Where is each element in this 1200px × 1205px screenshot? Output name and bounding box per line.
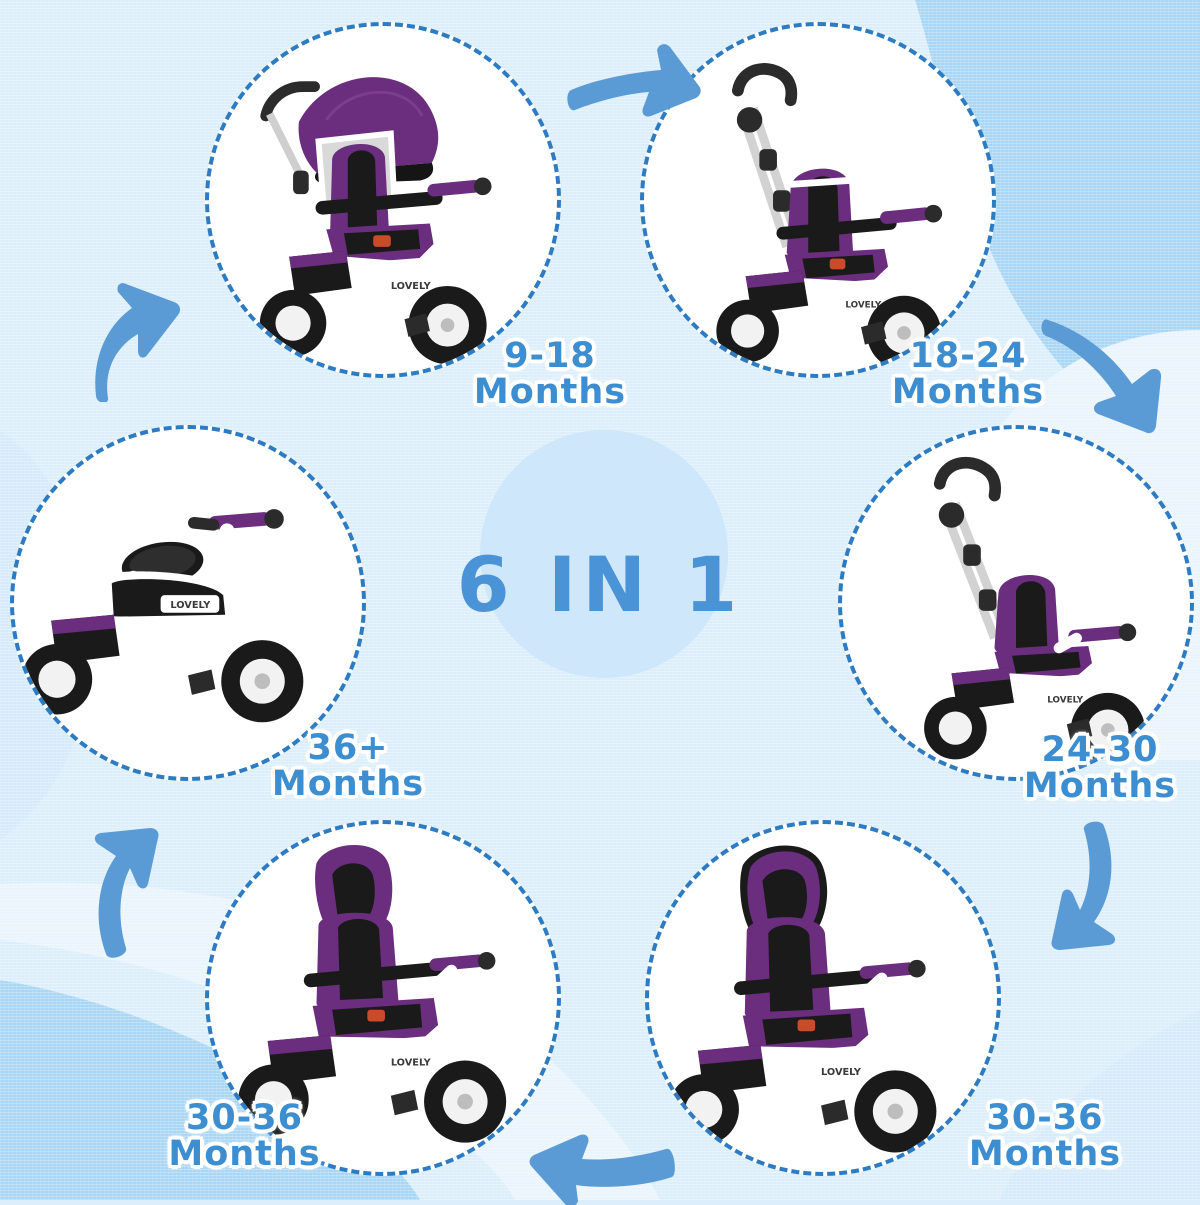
seat-back-inner-pad	[768, 925, 813, 1012]
safety-guard-bar	[322, 198, 435, 208]
harness-buckle	[830, 259, 846, 270]
brand-logo-text: LOVELY	[1047, 696, 1084, 706]
handlebar-grip	[866, 969, 909, 973]
harness-buckle	[798, 1020, 816, 1032]
front-wheel-cap	[457, 1094, 473, 1110]
handlebar-grip	[436, 961, 479, 965]
handlebar-grip	[886, 214, 925, 218]
stage-circle-1[interactable]: LOVELY	[205, 22, 561, 378]
harness-buckle	[373, 235, 391, 247]
rear-wheel-hub	[685, 1091, 722, 1128]
brand-logo-text: LOVELY	[391, 281, 432, 292]
flow-arrow-up-left-lower	[48, 818, 178, 963]
tricycle-illustration-24-30-months: LOVELY	[842, 429, 1190, 777]
flow-arrow-right-top	[565, 42, 705, 157]
tricycle-illustration-9-18-months: LOVELY	[209, 26, 557, 374]
handlebar-stem	[1059, 638, 1077, 648]
handlebar-end-cap	[908, 960, 926, 978]
push-handle-bar	[940, 463, 995, 496]
handle-clamp	[759, 149, 777, 171]
stage-label-5: 30-36 Months	[132, 1100, 357, 1173]
handle-clamp-2	[773, 190, 791, 212]
brand-logo-text: LOVELY	[391, 1057, 432, 1068]
front-wheel-cap	[254, 673, 270, 689]
infographic-stage: 6 IN 1	[0, 0, 1200, 1200]
front-wheel-cap	[888, 1104, 904, 1120]
handlebar-end-cap	[1119, 624, 1137, 642]
handlebar-grip	[434, 186, 475, 190]
stage-label-6: 36+ Months	[248, 730, 448, 803]
arrow-shape	[95, 828, 159, 958]
seat-back-inner-pad	[808, 176, 839, 253]
seat-back-inner-pad	[332, 863, 375, 919]
handle-pivot	[939, 502, 964, 527]
stage-label-4: 30-36 Months	[935, 1100, 1155, 1173]
stage-circle-3[interactable]: LOVELY	[838, 425, 1194, 781]
arrow-shape	[95, 283, 180, 402]
rear-wheel-hub	[275, 306, 310, 341]
handlebar-end-cap	[478, 952, 496, 970]
arrow-shape	[1051, 822, 1115, 950]
handlebar-grip	[1075, 632, 1120, 636]
arrow-shape	[530, 1134, 675, 1205]
brand-logo-text: LOVELY	[170, 600, 211, 611]
handlebar-left	[194, 523, 214, 525]
handlebar-end-cap	[474, 178, 492, 196]
handlebar-grip	[215, 519, 264, 523]
tricycle-illustration-36-plus-months: LOVELY	[14, 429, 362, 777]
seat-back-inner-pad	[1016, 581, 1047, 648]
harness-buckle	[367, 1010, 385, 1022]
stage-label-1: 9-18 Months	[440, 338, 660, 411]
rear-wheel-hub	[939, 712, 972, 745]
handlebar-end-cap	[925, 205, 943, 223]
front-wheel-cap	[441, 318, 455, 332]
handle-clamp	[963, 544, 981, 566]
handle-clamp	[293, 171, 309, 194]
push-handle-bar	[738, 69, 791, 100]
seat-back-inner-pad	[348, 150, 377, 227]
arrow-shape	[567, 44, 700, 116]
handle-clamp-2	[979, 589, 997, 611]
rear-wheel-hub	[38, 661, 75, 698]
flow-arrow-down-right-lower	[1028, 818, 1158, 958]
stage-label-2: 18-24 Months	[855, 338, 1081, 411]
seat-lower-pad	[338, 919, 383, 1000]
headrest-inner	[762, 869, 807, 924]
brand-logo-text: LOVELY	[821, 1067, 862, 1078]
push-handle-pole	[270, 114, 299, 173]
rear-wheel-hub	[731, 314, 764, 347]
stage-label-3: 24-30 Months	[1000, 732, 1200, 805]
flow-arrow-up-right-upper	[70, 282, 200, 402]
guard-bar-support	[796, 971, 800, 1006]
flow-arrow-left-bottom	[518, 1125, 678, 1205]
guard-bar-support	[365, 963, 369, 998]
handlebar-end-cap	[264, 509, 284, 529]
handle-pivot	[737, 107, 762, 132]
center-headline: 6 IN 1	[420, 540, 780, 629]
handlebar-stem	[227, 531, 235, 592]
headrest-frame	[791, 180, 850, 184]
